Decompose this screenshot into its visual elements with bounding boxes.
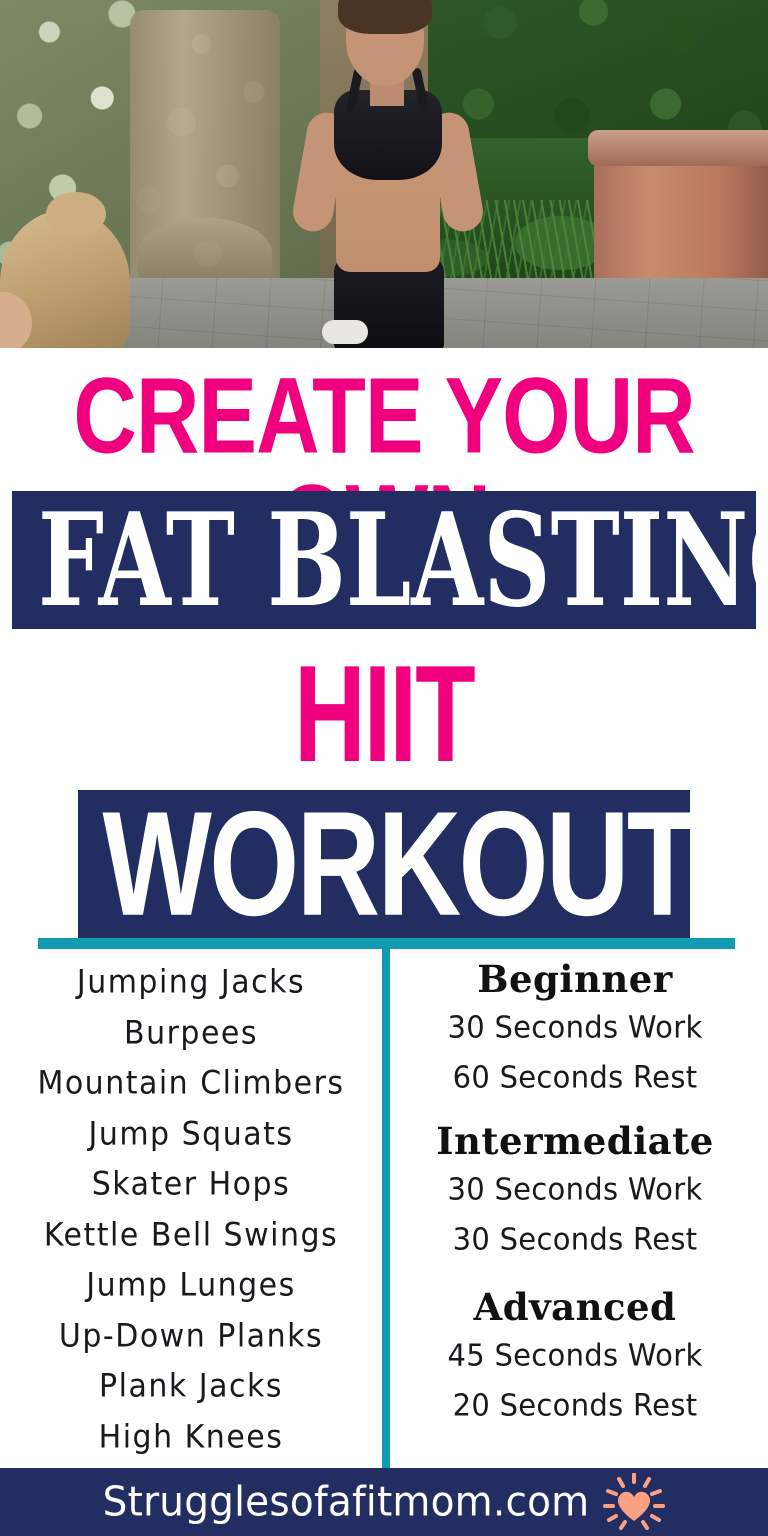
level-rest-time: 20 Seconds Rest — [447, 1379, 702, 1432]
child-ponytail — [46, 192, 106, 236]
content-columns: Jumping Jacks Burpees Mountain Climbers … — [0, 952, 768, 1464]
footer-bar: Strugglesofafitmom.com — [0, 1468, 768, 1536]
woman-exercising — [270, 0, 520, 348]
list-item: Skater Hops — [92, 1158, 290, 1212]
title-bar-fat-blasting: FAT BLASTING — [12, 491, 756, 629]
heart-icon — [603, 1473, 665, 1531]
title-block: CREATE YOUR OWN FAT BLASTING HIIT WORKOU… — [0, 348, 768, 538]
list-item: Burpees — [124, 1007, 258, 1061]
list-item: Jumping Jacks — [77, 956, 305, 1010]
title-line-hiit: HIIT — [38, 646, 729, 784]
level-intermediate: Intermediate 30 Seconds Work 30 Seconds … — [436, 1118, 714, 1264]
level-work-time: 30 Seconds Work — [447, 1001, 702, 1054]
level-title: Intermediate — [436, 1118, 714, 1164]
title-line-workout: WORKOUT — [102, 777, 665, 952]
level-title: Beginner — [447, 956, 702, 1002]
list-item: Kettle Bell Swings — [44, 1209, 338, 1263]
list-item: Jump Lunges — [86, 1259, 296, 1313]
level-rest-time: 60 Seconds Rest — [447, 1051, 702, 1104]
level-title: Advanced — [447, 1284, 702, 1330]
level-work-time: 30 Seconds Work — [436, 1163, 714, 1216]
hero-photo — [0, 0, 768, 348]
list-item: High Knees — [99, 1411, 284, 1465]
website-url[interactable]: Strugglesofafitmom.com — [103, 1478, 590, 1525]
woman-hair — [338, 0, 432, 34]
title-line-fat-blasting: FAT BLASTING — [38, 472, 730, 649]
title-bar-workout: WORKOUT — [78, 790, 690, 938]
pinterest-infographic: CREATE YOUR OWN FAT BLASTING HIIT WORKOU… — [0, 0, 768, 1536]
level-work-time: 45 Seconds Work — [447, 1329, 702, 1382]
level-advanced: Advanced 45 Seconds Work 20 Seconds Rest — [447, 1284, 702, 1430]
list-item: Plank Jacks — [99, 1360, 283, 1414]
list-item: Mountain Climbers — [37, 1057, 344, 1111]
woman-shoe — [322, 320, 368, 344]
level-rest-time: 30 Seconds Rest — [436, 1213, 714, 1266]
list-item: Jump Squats — [88, 1108, 293, 1162]
list-item: Up-Down Planks — [59, 1310, 323, 1364]
child-foreground — [0, 196, 160, 348]
intensity-levels: Beginner 30 Seconds Work 60 Seconds Rest… — [382, 952, 768, 1464]
level-beginner: Beginner 30 Seconds Work 60 Seconds Rest — [447, 956, 702, 1102]
exercise-list: Jumping Jacks Burpees Mountain Climbers … — [0, 952, 382, 1464]
